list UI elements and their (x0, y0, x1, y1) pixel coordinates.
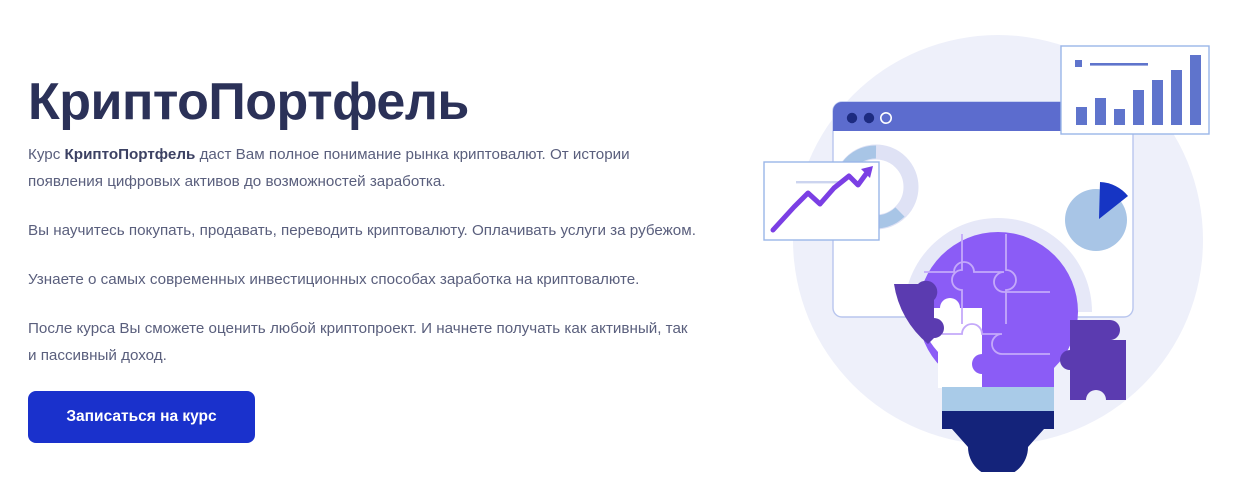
bulb-base-band (942, 411, 1054, 429)
window-dot-1 (847, 113, 857, 123)
line-chart-card (764, 162, 879, 240)
hero-section: КриптоПортфель Курс КриптоПортфель даст … (0, 0, 1251, 492)
paragraph-skills: Вы научитесь покупать, продавать, перево… (28, 217, 700, 244)
bulb-base-tip (952, 429, 1044, 472)
bar-chart-card (1061, 46, 1209, 134)
paragraph-outcome: После курса Вы сможете оценить любой кри… (28, 315, 700, 369)
puzzle-lightbulb-analytics-illustration (748, 22, 1238, 472)
legend-swatch (1075, 60, 1082, 67)
page-title: КриптоПортфель (28, 71, 469, 133)
legend-line (1090, 63, 1148, 66)
paragraph-intro: Курс КриптоПортфель даст Вам полное пони… (28, 141, 700, 195)
course-name-bold: КриптоПортфель (65, 146, 196, 163)
enroll-course-button[interactable]: Записаться на курс (28, 391, 255, 443)
hero-description: Курс КриптоПортфель даст Вам полное пони… (28, 141, 700, 369)
window-dot-2 (864, 113, 874, 123)
paragraph-intro-lead: Курс (28, 146, 65, 163)
bulb-collar (942, 387, 1054, 411)
paragraph-investing: Узнаете о самых современных инвестиционн… (28, 266, 700, 293)
